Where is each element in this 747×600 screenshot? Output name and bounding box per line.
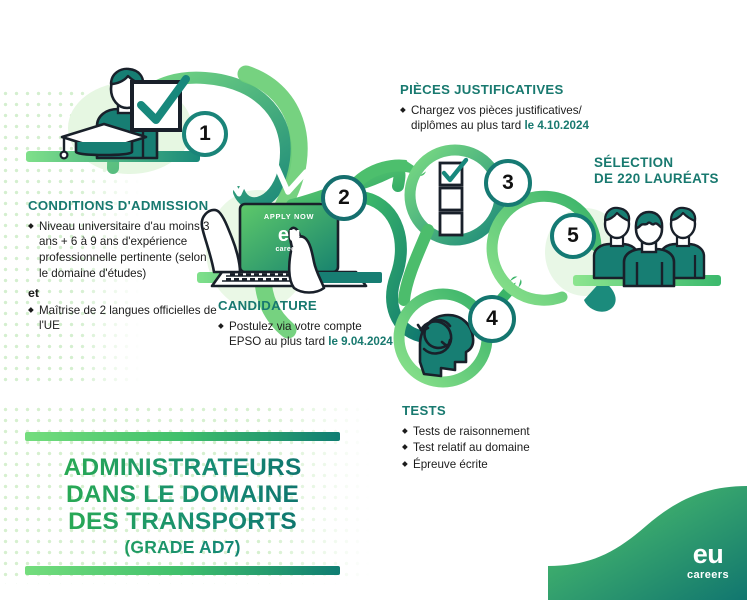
- arrowhead-big: [276, 165, 306, 192]
- candidature-heading: CANDIDATURE: [218, 298, 393, 314]
- eu-careers-logo: eu careers: [676, 541, 740, 581]
- title-main: ADMINISTRATEURS DANS LE DOMAINE DES TRAN…: [63, 454, 301, 535]
- arrowhead-1-inner: [228, 172, 249, 194]
- pieces-date: le 4.10.2024: [524, 119, 588, 132]
- step-number: 3: [502, 171, 514, 195]
- section-pieces: PIÈCES JUSTIFICATIVES Chargez vos pièces…: [400, 82, 615, 135]
- pieces-heading: PIÈCES JUSTIFICATIVES: [400, 82, 615, 98]
- list-item: Niveau universitaire d'au moins 3 ans + …: [28, 219, 218, 282]
- main-title-block: ADMINISTRATEURS DANS LE DOMAINE DES TRAN…: [25, 432, 340, 575]
- selection-heading: SÉLECTION DE 220 LAURÉATS: [594, 155, 744, 187]
- title-grade: (GRADE AD7): [25, 538, 340, 557]
- list-item: Tests de raisonnement: [402, 424, 602, 440]
- conditions-bullet-list-2: Maîtrise de 2 langues officielles de l'U…: [28, 303, 218, 335]
- connector-ribbon-3-leg: [404, 230, 428, 300]
- page-title: ADMINISTRATEURS DANS LE DOMAINE DES TRAN…: [25, 454, 340, 557]
- step-badge-1: 1: [182, 111, 228, 157]
- conditions-bullet-list: Niveau universitaire d'au moins 3 ans + …: [28, 219, 218, 282]
- platform-bar-3: [573, 275, 721, 286]
- tests-heading: TESTS: [402, 403, 602, 419]
- laptop-screen-content: APPLY NOW eu careers: [240, 212, 338, 253]
- list-item: Épreuve écrite: [402, 457, 602, 473]
- infographic-canvas: 1 2 3 4 5 APPLY NOW eu careers CONDITION…: [0, 0, 747, 600]
- arrowhead-2: [409, 160, 424, 180]
- brain-head-icon: [418, 315, 473, 376]
- list-item: Maîtrise de 2 langues officielles de l'U…: [28, 303, 218, 335]
- platform-bar-2: [197, 272, 382, 283]
- section-conditions: CONDITIONS D'ADMISSION Niveau universita…: [28, 198, 218, 335]
- logo-careers-text: careers: [676, 569, 740, 581]
- step-number: 4: [486, 307, 498, 331]
- step-number: 1: [199, 122, 211, 146]
- section-candidature: CANDIDATURE Postulez via votre compte EP…: [218, 298, 393, 351]
- title-rule-bottom: [25, 566, 340, 575]
- tests-bullet-list: Tests de raisonnement Test relatif au do…: [402, 424, 602, 473]
- laptop-careers-label: careers: [240, 246, 338, 253]
- candidature-bullet-list: Postulez via votre compte EPSO au plus t…: [218, 319, 393, 351]
- step-badge-4: 4: [468, 295, 516, 343]
- connector-ribbon-big: [246, 74, 299, 330]
- checklist-icon: [440, 160, 466, 235]
- conditions-heading: CONDITIONS D'ADMISSION: [28, 198, 218, 214]
- step-badge-5: 5: [550, 213, 596, 259]
- pieces-bullet-list: Chargez vos pièces justificatives/ diplô…: [400, 103, 615, 135]
- conditions-conjunction: et: [28, 286, 218, 300]
- logo-eu-text: eu: [676, 541, 740, 568]
- step-badge-3: 3: [484, 159, 532, 207]
- laptop-eu-logo: eu: [240, 225, 338, 246]
- list-item: Postulez via votre compte EPSO au plus t…: [218, 319, 393, 351]
- arrowhead-4: [506, 278, 519, 292]
- checkmark-box-icon: [132, 79, 186, 130]
- step-number: 2: [338, 186, 350, 210]
- step-number: 5: [567, 224, 579, 248]
- candidature-date: le 9.04.2024: [328, 335, 392, 348]
- section-selection: SÉLECTION DE 220 LAURÉATS: [594, 155, 744, 192]
- section-tests: TESTS Tests de raisonnement Test relatif…: [402, 403, 602, 474]
- title-rule-top: [25, 432, 340, 441]
- people-group-icon: [594, 208, 704, 286]
- tail-step-5: [584, 280, 616, 312]
- list-item: Test relatif au domaine: [402, 440, 602, 456]
- apply-now-label: APPLY NOW: [240, 212, 338, 221]
- list-item: Chargez vos pièces justificatives/ diplô…: [400, 103, 615, 135]
